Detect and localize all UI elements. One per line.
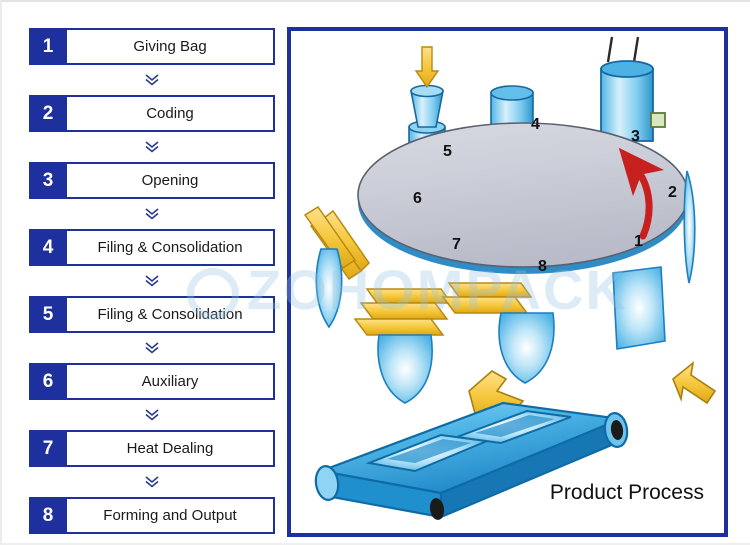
step-item-7[interactable]: 7 Heat Dealing xyxy=(29,430,275,467)
step-item-3[interactable]: 3 Opening xyxy=(29,162,275,199)
station-7-sealing-jaws xyxy=(355,289,451,403)
rotary-packing-machine-illustration: 1 2 3 4 5 6 7 8 xyxy=(291,31,724,533)
pouch-1 xyxy=(613,267,665,349)
step-number-1: 1 xyxy=(31,30,65,63)
step-number-3: 3 xyxy=(31,164,65,197)
step-item-5[interactable]: 5 Filing & Consolidation xyxy=(29,296,275,333)
station-label-8: 8 xyxy=(538,258,547,275)
recirculation-arrow-icon xyxy=(673,363,715,403)
double-chevron-down-icon xyxy=(145,74,159,86)
station-8-forming-unit xyxy=(443,283,554,383)
step-connector-7 xyxy=(29,467,275,497)
step-connector-6 xyxy=(29,400,275,430)
step-number-7: 7 xyxy=(31,432,65,465)
step-label-3: Opening xyxy=(65,164,273,197)
step-connector-3 xyxy=(29,199,275,229)
step-item-6[interactable]: 6 Auxiliary xyxy=(29,363,275,400)
step-label-1: Giving Bag xyxy=(65,30,273,63)
step-label-4: Filing & Consolidation xyxy=(65,231,273,264)
step-label-6: Auxiliary xyxy=(65,365,273,398)
station-label-1: 1 xyxy=(634,233,643,250)
double-chevron-down-icon xyxy=(145,141,159,153)
double-chevron-down-icon xyxy=(145,275,159,287)
step-item-8[interactable]: 8 Forming and Output xyxy=(29,497,275,534)
step-label-2: Coding xyxy=(65,97,273,130)
double-chevron-down-icon xyxy=(145,342,159,354)
pouch-8 xyxy=(499,313,554,383)
double-chevron-down-icon xyxy=(145,409,159,421)
step-connector-4 xyxy=(29,266,275,296)
empty-bag-sheet xyxy=(684,171,695,283)
step-item-1[interactable]: 1 Giving Bag xyxy=(29,28,275,65)
feed-arrow-down-icon xyxy=(416,47,438,87)
diagram-panel: 1 2 3 4 5 6 7 8 xyxy=(287,27,728,537)
station-label-2: 2 xyxy=(668,184,677,201)
step-item-4[interactable]: 4 Filing & Consolidation xyxy=(29,229,275,266)
step-number-6: 6 xyxy=(31,365,65,398)
diagram-title: Product Process xyxy=(550,481,704,505)
step-label-5: Filing & Consolidation xyxy=(65,298,273,331)
step-connector-2 xyxy=(29,132,275,162)
step-label-7: Heat Dealing xyxy=(65,432,273,465)
station-3-unit xyxy=(601,37,665,141)
station-label-3: 3 xyxy=(631,128,640,145)
step-number-2: 2 xyxy=(31,97,65,130)
step-label-8: Forming and Output xyxy=(65,499,273,532)
step-item-2[interactable]: 2 Coding xyxy=(29,95,275,132)
pouch-7 xyxy=(378,335,432,403)
step-number-8: 8 xyxy=(31,499,65,532)
step-connector-1 xyxy=(29,65,275,95)
pouch-6 xyxy=(316,249,341,327)
double-chevron-down-icon xyxy=(145,476,159,488)
step-number-4: 4 xyxy=(31,231,65,264)
diagram-canvas: 1 2 3 4 5 6 7 8 xyxy=(291,31,724,533)
process-steps-list: 1 Giving Bag 2 Coding 3 Opening xyxy=(29,28,275,534)
sensor-box-icon xyxy=(651,113,665,127)
station-label-6: 6 xyxy=(413,190,422,207)
station-6-sealing-jaws xyxy=(305,207,369,327)
screenshot-root: ZOHOMPACK 1 Giving Bag 2 Coding 3 Openin… xyxy=(0,0,750,545)
station-label-7: 7 xyxy=(452,236,461,253)
station-label-5: 5 xyxy=(443,143,452,160)
double-chevron-down-icon xyxy=(145,208,159,220)
step-connector-5 xyxy=(29,333,275,363)
step-number-5: 5 xyxy=(31,298,65,331)
station-label-4: 4 xyxy=(531,116,540,133)
rotary-table xyxy=(358,123,688,274)
